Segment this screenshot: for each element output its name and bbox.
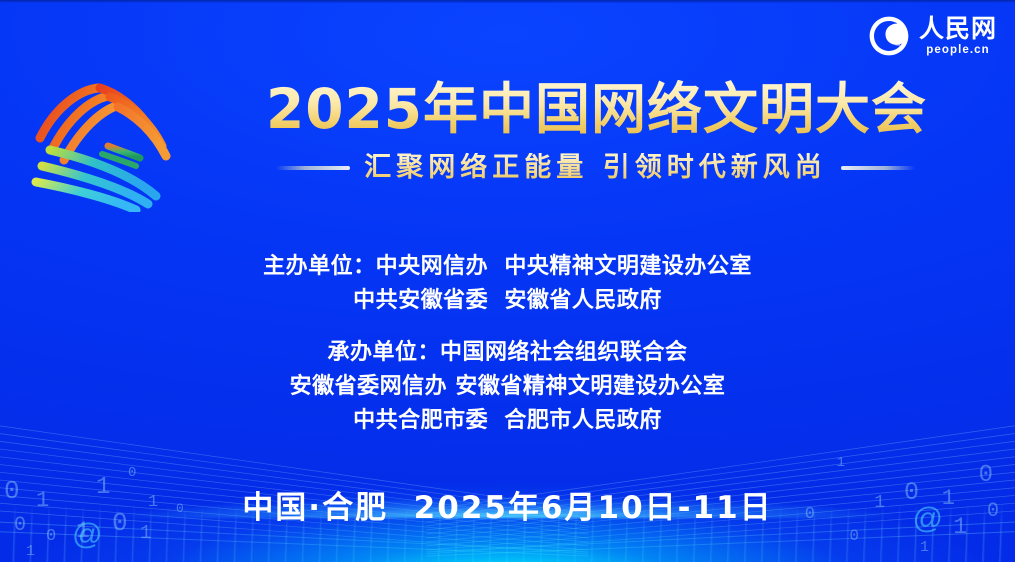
decorative-dash-right-icon: [841, 166, 915, 170]
organizers-section: 主办单位：中央网信办 中央精神文明建设办公室 中共安徽省委 安徽省人民政府 承办…: [0, 250, 1015, 438]
people-cn-name-english: people.cn: [926, 45, 990, 57]
people-cn-wordmark: 人民网 people.cn: [919, 16, 997, 57]
page-subtitle: 汇聚网络正能量 引领时代新风尚: [364, 153, 826, 183]
top-border-line: [0, 0, 1015, 3]
organizer-line: 主办单位：中央网信办 中央精神文明建设办公室: [0, 250, 1015, 284]
organizer-line: 中共合肥市委 合肥市人民政府: [0, 404, 1015, 438]
organizer-line: 承办单位：中国网络社会组织联合会: [0, 336, 1015, 370]
organizer-line: 中共安徽省委 安徽省人民政府: [0, 284, 1015, 318]
location-date-line: 中国·合肥 2025年6月10日-11日: [0, 482, 1015, 527]
conference-poster: 0 1 1 0 1 0 0 1 0 1 1 0 @ 0 1 0 1 0 1 1 …: [0, 0, 1015, 562]
title-group: 2025年中国网络文明大会 汇聚网络正能量 引领时代新风尚: [190, 80, 995, 183]
page-title: 2025年中国网络文明大会: [190, 80, 995, 139]
conference-emblem-icon: [22, 80, 184, 212]
organizer-line: 安徽省委网信办 安徽省精神文明建设办公室: [0, 370, 1015, 404]
people-cn-logo[interactable]: 人民网 people.cn: [867, 14, 997, 58]
people-cn-globe-icon: [867, 14, 911, 58]
decorative-dash-left-icon: [276, 166, 350, 170]
subtitle-row: 汇聚网络正能量 引领时代新风尚: [190, 153, 995, 183]
people-cn-name-chinese: 人民网: [919, 16, 997, 41]
organizer-block-host: 主办单位：中央网信办 中央精神文明建设办公室 中共安徽省委 安徽省人民政府: [0, 250, 1015, 318]
poster-header: 2025年中国网络文明大会 汇聚网络正能量 引领时代新风尚: [0, 80, 1015, 220]
organizer-block-co-host: 承办单位：中国网络社会组织联合会 安徽省委网信办 安徽省精神文明建设办公室 中共…: [0, 336, 1015, 438]
